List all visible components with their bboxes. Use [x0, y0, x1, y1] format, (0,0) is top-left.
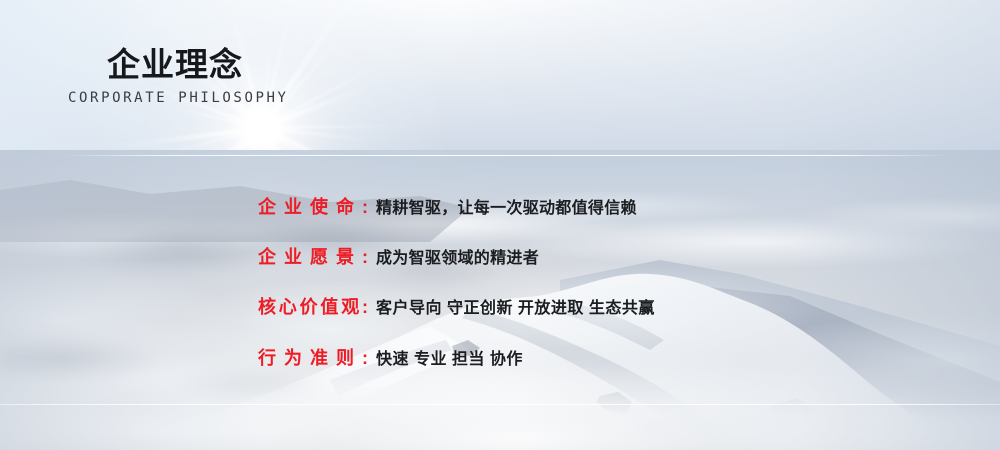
- philosophy-label-core-values: 核心价值观:: [258, 298, 368, 316]
- philosophy-list: 企业使命: 精耕智驱，让每一次驱动都值得信赖 企业愿景: 成为智驱领域的精进者 …: [0, 0, 1000, 450]
- philosophy-value-mission: 精耕智驱，让每一次驱动都值得信赖: [376, 201, 637, 217]
- philosophy-label-mission: 企业使命:: [258, 198, 368, 216]
- philosophy-label-code-of-conduct: 行为准则:: [258, 349, 368, 367]
- philosophy-row-code-of-conduct: 行为准则: 快速 专业 担当 协作: [258, 349, 523, 368]
- philosophy-row-vision: 企业愿景: 成为智驱领域的精进者: [258, 248, 539, 267]
- philosophy-banner: 企业理念 CORPORATE PHILOSOPHY 企业使命: 精耕智驱，让每一…: [0, 0, 1000, 450]
- philosophy-row-core-values: 核心价值观: 客户导向 守正创新 开放进取 生态共赢: [258, 298, 655, 317]
- philosophy-value-code-of-conduct: 快速 专业 担当 协作: [376, 352, 523, 368]
- philosophy-row-mission: 企业使命: 精耕智驱，让每一次驱动都值得信赖: [258, 198, 637, 217]
- philosophy-value-vision: 成为智驱领域的精进者: [376, 251, 539, 267]
- philosophy-label-vision: 企业愿景:: [258, 248, 368, 266]
- philosophy-value-core-values: 客户导向 守正创新 开放进取 生态共赢: [376, 301, 655, 317]
